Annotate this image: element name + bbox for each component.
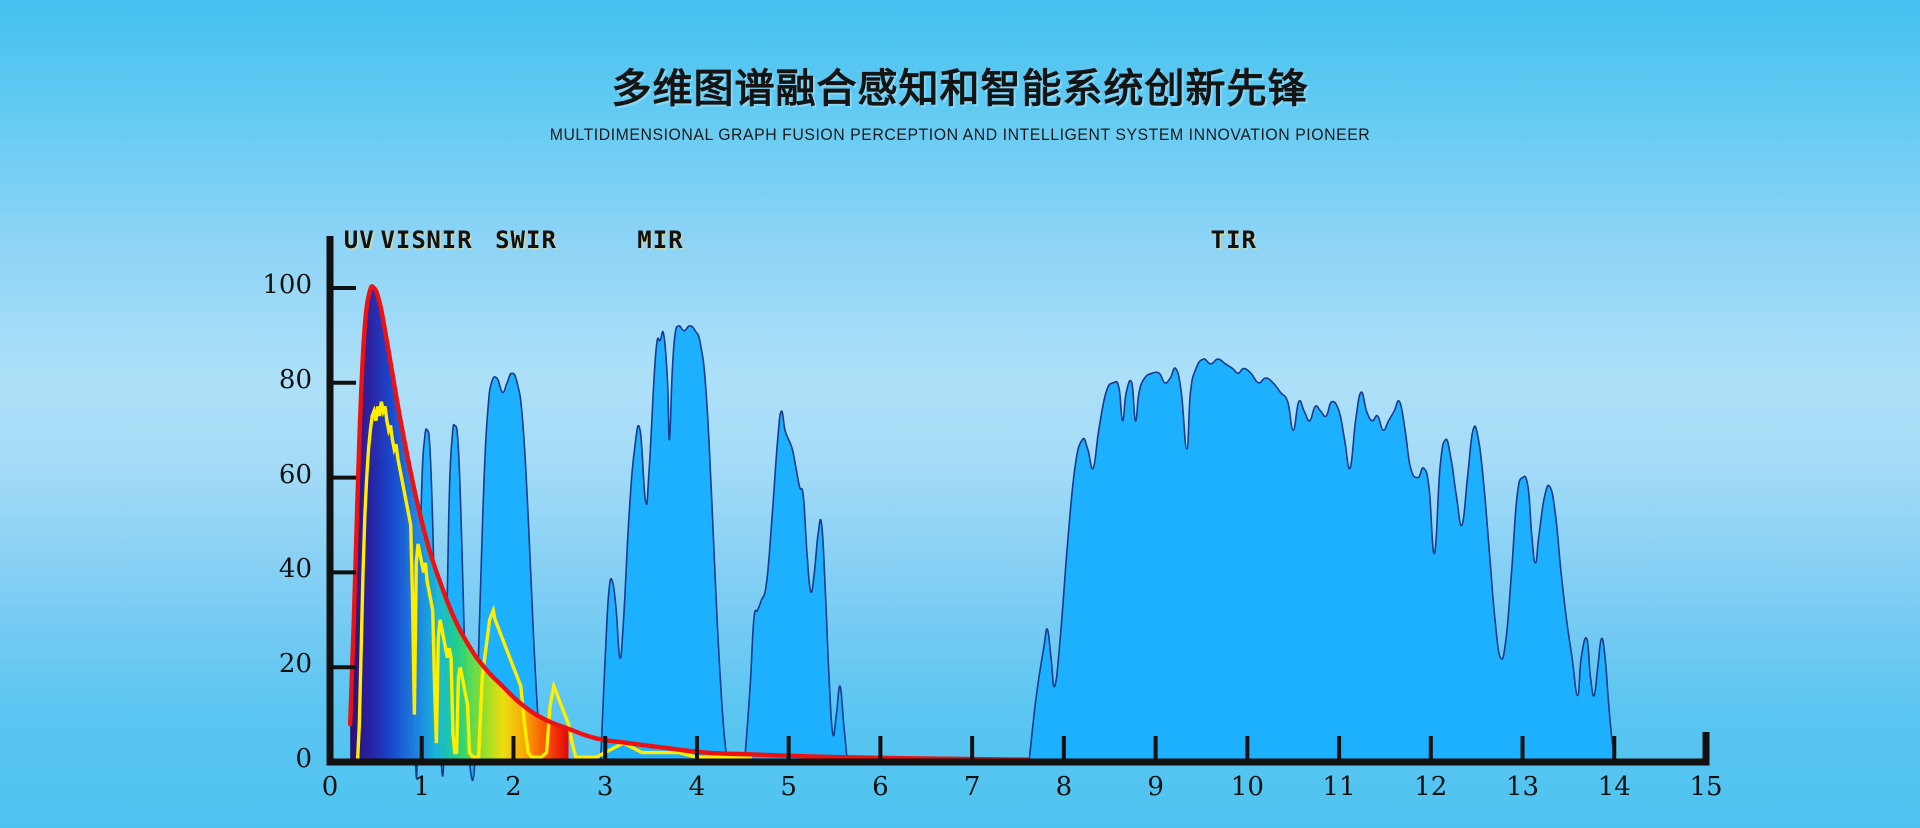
y-axis-tick-label: 0 xyxy=(252,744,312,774)
transmission-band xyxy=(601,326,728,762)
x-axis-tick-label: 7 xyxy=(947,772,997,802)
band-label-nir: NIR xyxy=(426,226,472,254)
x-axis-tick-label: 12 xyxy=(1406,772,1456,802)
x-axis-tick-label: 4 xyxy=(672,772,722,802)
band-label-vis: VIS xyxy=(380,226,426,254)
y-axis-tick-label: 20 xyxy=(252,649,312,679)
x-axis-tick-label: 9 xyxy=(1131,772,1181,802)
x-axis-tick-label: 2 xyxy=(488,772,538,802)
chart-page: 多维图谱融合感知和智能系统创新先锋 MULTIDIMENSIONAL GRAPH… xyxy=(0,0,1920,828)
x-axis-tick-label: 5 xyxy=(764,772,814,802)
y-axis-tick-label: 80 xyxy=(252,365,312,395)
y-axis-tick-label: 100 xyxy=(252,270,312,300)
x-axis-tick-label: 14 xyxy=(1589,772,1639,802)
band-label-swir: SWIR xyxy=(495,226,557,254)
x-axis-tick-label: 10 xyxy=(1222,772,1272,802)
spectral-chart xyxy=(0,0,1920,828)
x-axis-tick-label: 0 xyxy=(305,772,355,802)
transmission-bands xyxy=(358,326,1617,781)
transmission-band xyxy=(745,411,848,762)
x-axis-tick-label: 3 xyxy=(580,772,630,802)
y-axis-tick-label: 40 xyxy=(252,554,312,584)
x-axis-tick-label: 1 xyxy=(397,772,447,802)
x-axis-tick-label: 15 xyxy=(1681,772,1731,802)
band-label-mir: MIR xyxy=(637,226,683,254)
y-axis-tick-label: 60 xyxy=(252,460,312,490)
x-axis-tick-label: 11 xyxy=(1314,772,1364,802)
band-label-tir: TIR xyxy=(1211,226,1257,254)
x-axis-tick-label: 13 xyxy=(1498,772,1548,802)
band-label-uv: UV xyxy=(344,226,375,254)
transmission-band xyxy=(1029,359,1616,762)
x-axis-tick-label: 8 xyxy=(1039,772,1089,802)
x-axis-tick-label: 6 xyxy=(855,772,905,802)
